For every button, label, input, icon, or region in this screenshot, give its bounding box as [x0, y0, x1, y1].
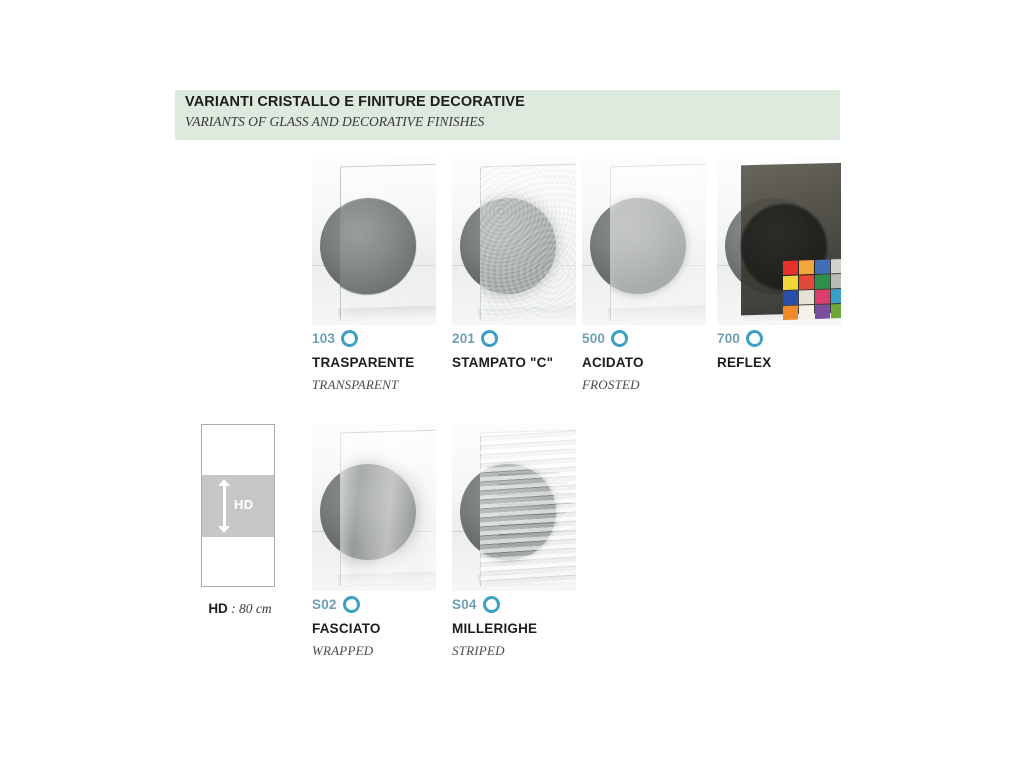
swatch-code: 500 — [582, 331, 605, 346]
swatch-subtitle: STRIPED — [452, 643, 505, 659]
swatch-name: TRASPARENTE — [312, 355, 414, 370]
swatch-subtitle: WRAPPED — [312, 643, 373, 659]
checker-tile — [831, 304, 841, 319]
swatch-code-row: 700 — [717, 330, 763, 347]
glass-swatch-badge-icon — [343, 596, 360, 613]
checker-tile — [831, 289, 841, 304]
swatch-code-row: 103 — [312, 330, 358, 347]
swatch-photo-acidato — [582, 158, 706, 325]
swatch-name: FASCIATO — [312, 621, 381, 636]
glass-swatch-badge-icon — [341, 330, 358, 347]
swatch-photo-transparent — [312, 158, 436, 325]
checker-tile — [815, 304, 830, 319]
page-title: VARIANTI CRISTALLO E FINITURE DECORATIVE — [185, 94, 525, 110]
swatch-name: STAMPATO "C" — [452, 355, 553, 370]
checker-tile — [831, 274, 841, 289]
checker-tile — [783, 261, 798, 276]
swatch-photo-fasciato — [312, 424, 436, 591]
hd-caption-key: HD — [208, 601, 228, 616]
hd-caption-value: : 80 cm — [228, 601, 272, 616]
glass-swatch-badge-icon — [483, 596, 500, 613]
swatch-code-row: S02 — [312, 596, 360, 613]
acidato-frost-overlay — [610, 164, 706, 319]
page-subtitle: VARIANTS OF GLASS AND DECORATIVE FINISHE… — [185, 114, 484, 130]
fasciato-texture-overlay — [340, 430, 436, 585]
swatch-700-reflex[interactable]: 700 REFLEX — [717, 158, 841, 325]
color-checker-chart — [783, 259, 841, 320]
hd-caption: HD : 80 cm — [185, 600, 295, 618]
swatch-code: 103 — [312, 331, 335, 346]
stampato-texture-overlay — [480, 164, 576, 319]
checker-tile — [783, 291, 798, 306]
swatch-photo-reflex — [717, 158, 841, 325]
checker-tile — [783, 276, 798, 291]
hd-dimension-diagram: HD HD : 80 cm — [201, 424, 277, 587]
swatch-code: 201 — [452, 331, 475, 346]
checker-tile — [799, 260, 814, 275]
swatch-s02-fasciato[interactable]: S02 FASCIATO WRAPPED — [312, 424, 436, 591]
page-root: VARIANTI CRISTALLO E FINITURE DECORATIVE… — [0, 0, 1024, 768]
checker-tile — [799, 305, 814, 320]
sphere-through-glass — [340, 430, 436, 585]
swatch-code: 700 — [717, 331, 740, 346]
swatch-name: REFLEX — [717, 355, 771, 370]
checker-tile — [799, 275, 814, 290]
section-header-band: VARIANTI CRISTALLO E FINITURE DECORATIVE… — [175, 90, 840, 140]
swatch-code: S04 — [452, 597, 477, 612]
sphere-through-glass — [480, 430, 576, 585]
hd-inner-label: HD — [234, 497, 253, 512]
swatch-subtitle: FROSTED — [582, 377, 640, 393]
swatch-500-acidato[interactable]: 500 ACIDATO FROSTED — [582, 158, 706, 325]
glass-swatch-badge-icon — [746, 330, 763, 347]
glass-swatch-badge-icon — [481, 330, 498, 347]
swatch-201-stampato-c[interactable]: 201 STAMPATO "C" — [452, 158, 576, 325]
checker-tile — [815, 274, 830, 289]
sphere-through-glass — [480, 164, 576, 319]
checker-tile — [783, 306, 798, 321]
swatch-code-row: S04 — [452, 596, 500, 613]
swatch-name: ACIDATO — [582, 355, 644, 370]
swatch-103-trasparente[interactable]: 103 TRASPARENTE TRANSPARENT — [312, 158, 436, 325]
swatch-subtitle: TRANSPARENT — [312, 377, 398, 393]
millerighe-texture-overlay — [480, 430, 576, 585]
swatch-photo-millerighe — [452, 424, 576, 591]
swatch-code-row: 500 — [582, 330, 628, 347]
hd-panel-outline: HD — [201, 424, 275, 587]
swatch-name: MILLERIGHE — [452, 621, 537, 636]
sphere-through-glass — [340, 164, 436, 319]
swatch-photo-stampato — [452, 158, 576, 325]
checker-tile — [815, 259, 830, 274]
swatch-code-row: 201 — [452, 330, 498, 347]
glass-swatch-badge-icon — [611, 330, 628, 347]
sphere-through-glass — [610, 164, 706, 319]
checker-tile — [831, 259, 841, 274]
checker-tile — [815, 289, 830, 304]
hd-double-arrow-icon — [218, 479, 230, 533]
swatch-s04-millerighe[interactable]: S04 MILLERIGHE STRIPED — [452, 424, 576, 591]
swatch-code: S02 — [312, 597, 337, 612]
checker-tile — [799, 290, 814, 305]
